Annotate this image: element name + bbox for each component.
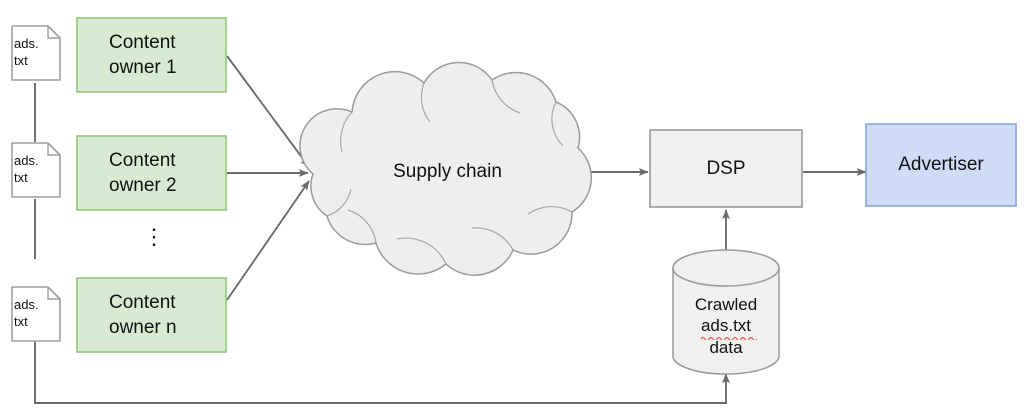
supply-chain-cloud-shape[interactable] [300,62,591,275]
arrow-ownern-to-supplychain [227,181,309,300]
note-shape-3[interactable] [12,287,60,341]
note-shape-group [12,26,60,341]
diagram-canvas: ads. txt ads. txt ads. txt Content owner… [0,0,1024,415]
content-owner-1-shape[interactable] [77,18,226,92]
content-owner-2-shape[interactable] [77,136,226,210]
diagram-vector-layer [0,0,1024,415]
content-owner-ellipsis: ⋮ [143,226,165,248]
content-owner-n-shape[interactable] [77,278,226,352]
note-shape-1[interactable] [12,26,60,80]
advertiser-shape[interactable] [866,124,1016,206]
arrow-owner1-to-supplychain [227,56,309,167]
note-shape-2[interactable] [12,143,60,197]
crawled-data-cylinder-shape[interactable] [673,250,779,374]
content-owner-shape-group [77,18,226,352]
dsp-shape[interactable] [650,130,802,207]
